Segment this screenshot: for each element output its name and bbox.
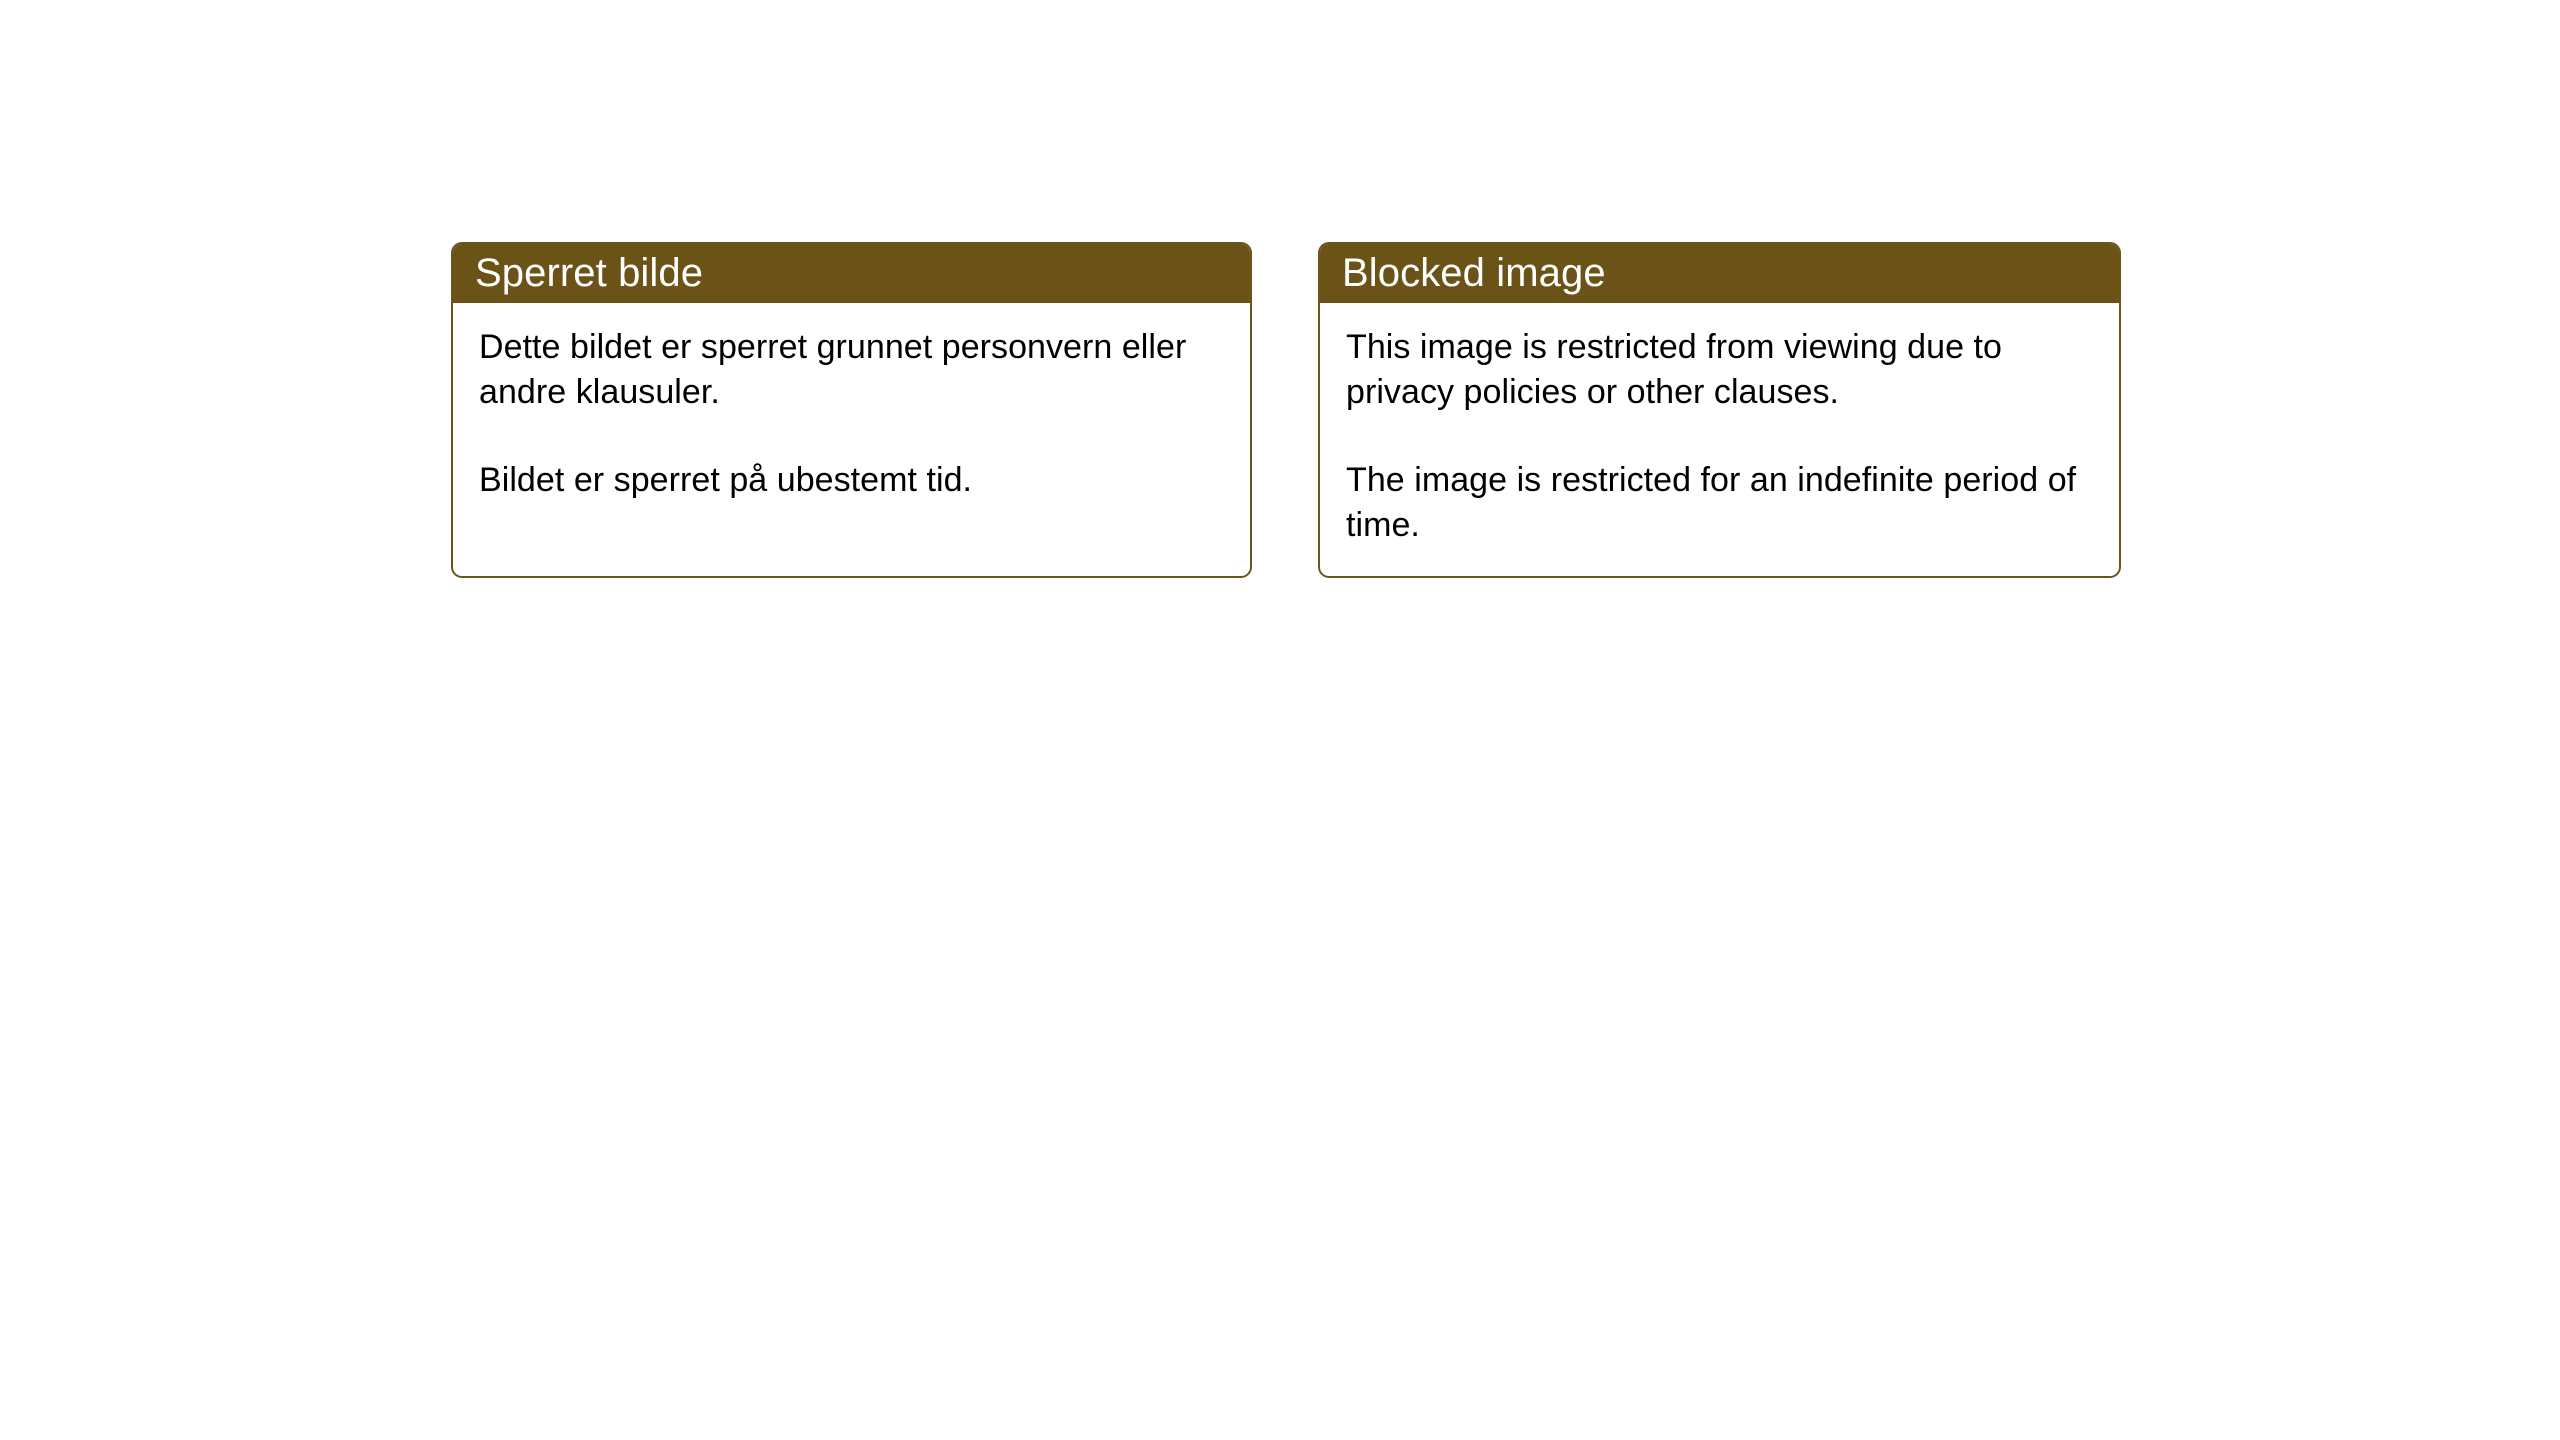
card-paragraph-primary-norwegian: Dette bildet er sperret grunnet personve… [479, 325, 1224, 415]
card-paragraph-primary-english: This image is restricted from viewing du… [1346, 325, 2093, 415]
blocked-image-card-english: Blocked image This image is restricted f… [1318, 242, 2121, 578]
card-body-norwegian: Dette bildet er sperret grunnet personve… [453, 303, 1250, 503]
card-header-norwegian: Sperret bilde [452, 243, 1251, 303]
card-header-english: Blocked image [1319, 243, 2120, 303]
card-title-norwegian: Sperret bilde [475, 251, 703, 295]
card-title-english: Blocked image [1342, 251, 1606, 295]
blocked-image-notice-group: Sperret bilde Dette bildet er sperret gr… [451, 242, 2121, 578]
card-paragraph-secondary-norwegian: Bildet er sperret på ubestemt tid. [479, 458, 1224, 503]
blocked-image-card-norwegian: Sperret bilde Dette bildet er sperret gr… [451, 242, 1252, 578]
card-paragraph-secondary-english: The image is restricted for an indefinit… [1346, 458, 2093, 548]
card-body-english: This image is restricted from viewing du… [1320, 303, 2119, 548]
